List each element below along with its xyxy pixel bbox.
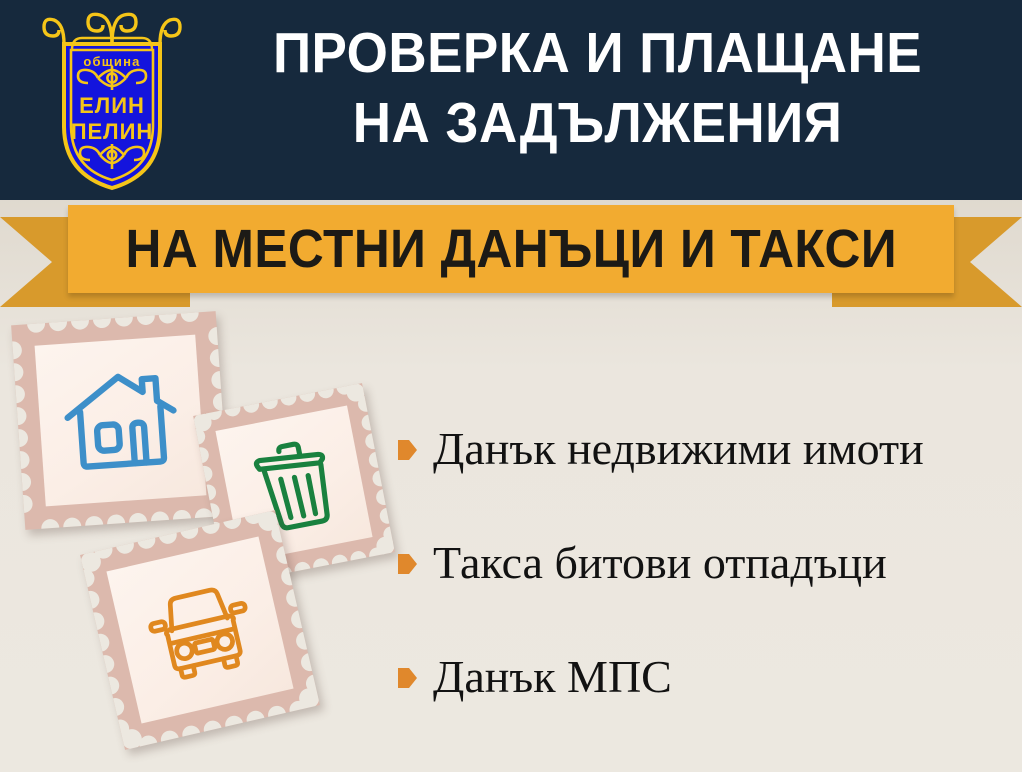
- list-item-label: Данък недвижими имоти: [433, 420, 924, 478]
- municipality-logo: община ЕЛИН ПЕЛИН: [42, 8, 182, 193]
- page-title-line-1: ПРОВЕРКА И ПЛАЩАНЕ: [273, 21, 922, 85]
- logo-bottom-text: ПЕЛИН: [71, 119, 154, 144]
- arrow-bullet-icon: [398, 553, 417, 575]
- poster-canvas: община ЕЛИН ПЕЛИН: [0, 0, 1022, 772]
- ribbon-band: НА МЕСТНИ ДАНЪЦИ И ТАКСИ: [68, 205, 954, 293]
- house-icon: [58, 363, 183, 479]
- list-item-label: Такса битови отпадъци: [433, 534, 887, 592]
- page-title: ПРОВЕРКА И ПЛАЩАНЕ НА ЗАДЪЛЖЕНИЯ: [219, 18, 977, 158]
- arrow-bullet-icon: [398, 667, 417, 689]
- coat-of-arms-icon: община ЕЛИН ПЕЛИН: [42, 8, 182, 193]
- list-item: Данък недвижими имоти: [398, 420, 1008, 478]
- car-front-icon: [135, 571, 265, 689]
- logo-mid-text: ЕЛИН: [79, 93, 145, 118]
- list-item: Такса битови отпадъци: [398, 534, 1008, 592]
- list-item: Данък МПС: [398, 648, 1008, 706]
- tax-type-list: Данък недвижими имоти Такса битови отпад…: [398, 420, 1008, 762]
- page-title-line-2: НА ЗАДЪЛЖЕНИЯ: [219, 88, 977, 158]
- arrow-bullet-icon: [398, 439, 417, 461]
- ribbon-text: НА МЕСТНИ ДАНЪЦИ И ТАКСИ: [125, 218, 897, 280]
- list-item-label: Данък МПС: [433, 648, 672, 706]
- ribbon-banner: НА МЕСТНИ ДАНЪЦИ И ТАКСИ: [0, 200, 1022, 308]
